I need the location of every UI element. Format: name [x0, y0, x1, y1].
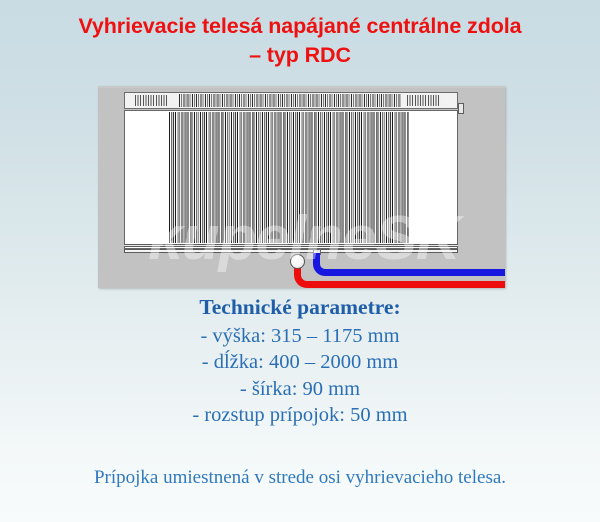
grille-vent-right-icon	[407, 95, 441, 106]
product-illustration: kupelneSK	[98, 86, 505, 288]
title-line-2: – typ RDC	[0, 41, 600, 70]
radiator-top-grille	[124, 92, 458, 109]
radiator-side-tab	[458, 103, 464, 114]
connection-valve-icon	[290, 254, 305, 269]
radiator-body-panel	[124, 110, 458, 249]
return-pipe-run	[325, 269, 505, 276]
slide-root: Vyhrievacie telesá napájané centrálne zd…	[0, 0, 600, 522]
footnote-text: Prípojka umiestnená v strede osi vyhriev…	[0, 466, 600, 490]
spec-height: - výška: 315 – 1175 mm	[0, 323, 600, 350]
title-line-1: Vyhrievacie telesá napájané centrálne zd…	[78, 14, 521, 38]
page-title: Vyhrievacie telesá napájané centrálne zd…	[0, 12, 600, 70]
spec-width: - šírka: 90 mm	[0, 376, 600, 403]
grille-slats	[179, 94, 401, 107]
radiator-figure	[124, 92, 458, 254]
technical-parameters: Technické parametre: - výška: 315 – 1175…	[0, 294, 600, 429]
radiator-bottom-rail-upper	[124, 244, 458, 247]
radiator-fins	[169, 112, 409, 243]
specs-heading: Technické parametre:	[0, 294, 600, 321]
supply-pipe-run	[307, 281, 505, 288]
spec-length: - dĺžka: 400 – 2000 mm	[0, 349, 600, 376]
spec-spacing: - rozstup prípojok: 50 mm	[0, 402, 600, 429]
grille-vent-left-icon	[135, 95, 169, 106]
